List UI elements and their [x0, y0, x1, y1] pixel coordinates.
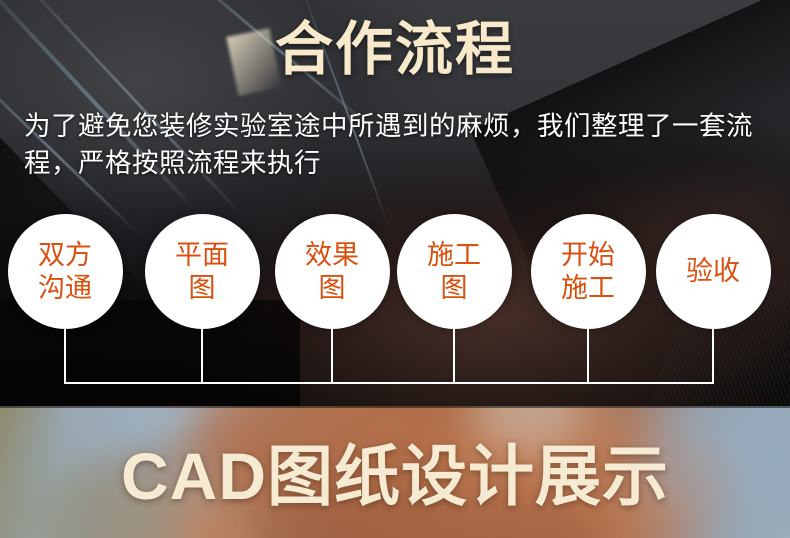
process-step-5[interactable]: 开始 施工	[531, 214, 646, 329]
process-step-2[interactable]: 平面 图	[145, 214, 260, 329]
process-steps-row: 双方 沟通平面 图效果 图施工 图开始 施工验收	[0, 214, 790, 332]
process-step-label-5: 开始 施工	[561, 239, 615, 305]
connector-stem-5	[587, 325, 589, 383]
process-section: 合作流程 为了避免您装修实验室途中所遇到的麻烦，我们整理了一套流程，严格按照流程…	[0, 0, 790, 406]
section-subtitle: 为了避免您装修实验室途中所遇到的麻烦，我们整理了一套流程，严格按照流程来执行	[24, 108, 778, 181]
banner-divider	[0, 406, 790, 408]
process-step-label-1: 双方 沟通	[38, 239, 92, 305]
process-step-6[interactable]: 验收	[656, 214, 771, 329]
cad-banner: CAD图纸设计展示	[0, 406, 790, 538]
process-step-label-2: 平面 图	[175, 239, 229, 305]
page-title: 合作流程	[0, 14, 790, 87]
process-step-label-6: 验收	[686, 255, 740, 288]
process-connectors	[0, 325, 790, 395]
connector-rail	[64, 382, 714, 384]
process-step-label-4: 施工 图	[427, 239, 481, 305]
promo-page: 合作流程 为了避免您装修实验室途中所遇到的麻烦，我们整理了一套流程，严格按照流程…	[0, 0, 790, 538]
process-step-1[interactable]: 双方 沟通	[8, 214, 123, 329]
connector-stem-3	[331, 325, 333, 383]
process-step-4[interactable]: 施工 图	[397, 214, 512, 329]
connector-stem-4	[453, 325, 455, 383]
connector-stem-2	[201, 325, 203, 383]
connector-stem-1	[64, 325, 66, 383]
banner-title: CAD图纸设计展示	[0, 442, 790, 511]
process-step-label-3: 效果 图	[305, 239, 359, 305]
connector-stem-6	[712, 325, 714, 383]
process-step-3[interactable]: 效果 图	[275, 214, 390, 329]
